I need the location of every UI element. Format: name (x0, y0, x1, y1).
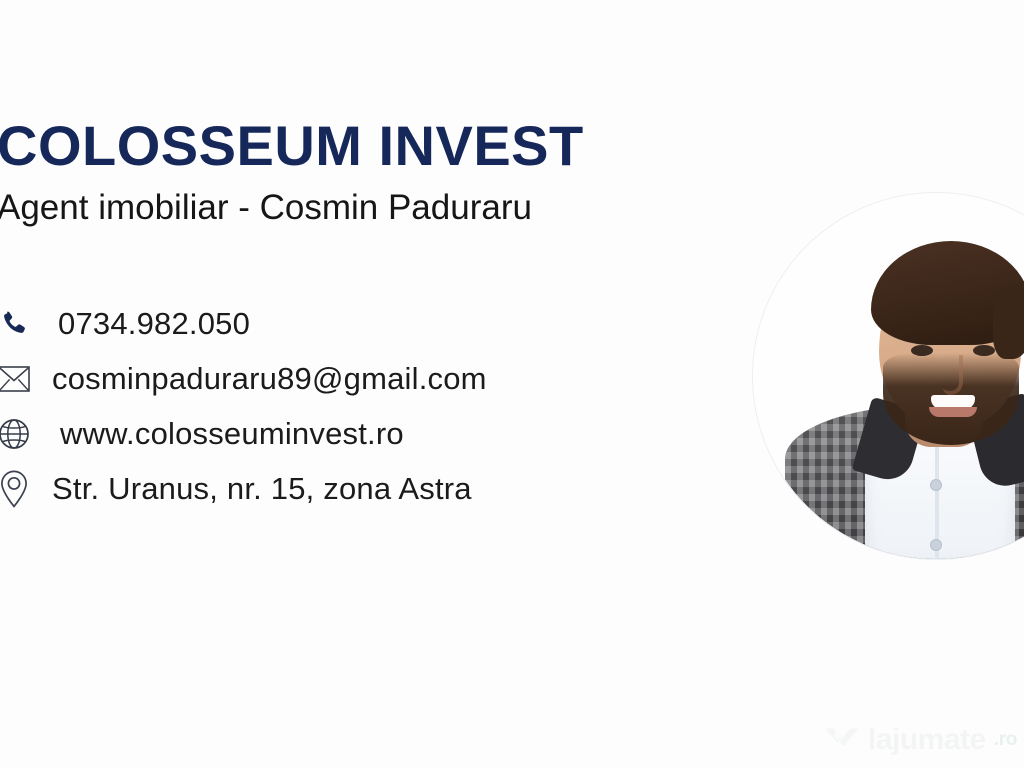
handshake-logo-icon (824, 722, 860, 757)
street-address: Str. Uranus, nr. 15, zona Astra (42, 471, 472, 507)
watermark-tld: .ro (994, 729, 1017, 751)
envelope-icon (0, 357, 42, 401)
portrait-hair-side (993, 285, 1024, 359)
contact-row-address: Str. Uranus, nr. 15, zona Astra (0, 461, 740, 516)
portrait-eye-left (911, 345, 933, 356)
contact-row-website: www.colosseuminvest.ro (0, 406, 740, 461)
email-address: cosminpaduraru89@gmail.com (42, 361, 487, 397)
portrait-shirt-button (930, 479, 942, 491)
phone-number: 0734.982.050 (42, 306, 250, 342)
watermark-brand: lajumate (868, 725, 986, 755)
site-watermark: lajumate .ro (824, 722, 1017, 757)
location-pin-icon (0, 467, 42, 511)
text-block: COLOSSEUM INVEST Agent imobiliar - Cosmi… (0, 118, 740, 225)
contact-list: 0734.982.050 cosminpaduraru89@gmail.com (0, 296, 740, 516)
agent-portrait-photo (752, 192, 1024, 560)
business-card-image: COLOSSEUM INVEST Agent imobiliar - Cosmi… (0, 0, 1024, 768)
portrait-eye-right (973, 345, 995, 356)
portrait-lower-lip (929, 407, 977, 417)
company-name: COLOSSEUM INVEST (0, 118, 740, 174)
phone-icon (0, 302, 42, 346)
portrait-shirt-button (930, 539, 942, 551)
globe-icon (0, 412, 42, 456)
website-url: www.colosseuminvest.ro (42, 416, 404, 452)
contact-row-email: cosminpaduraru89@gmail.com (0, 351, 740, 406)
agent-role-and-name: Agent imobiliar - Cosmin Paduraru (0, 190, 740, 225)
contact-row-phone: 0734.982.050 (0, 296, 740, 351)
portrait-nose (943, 355, 963, 395)
